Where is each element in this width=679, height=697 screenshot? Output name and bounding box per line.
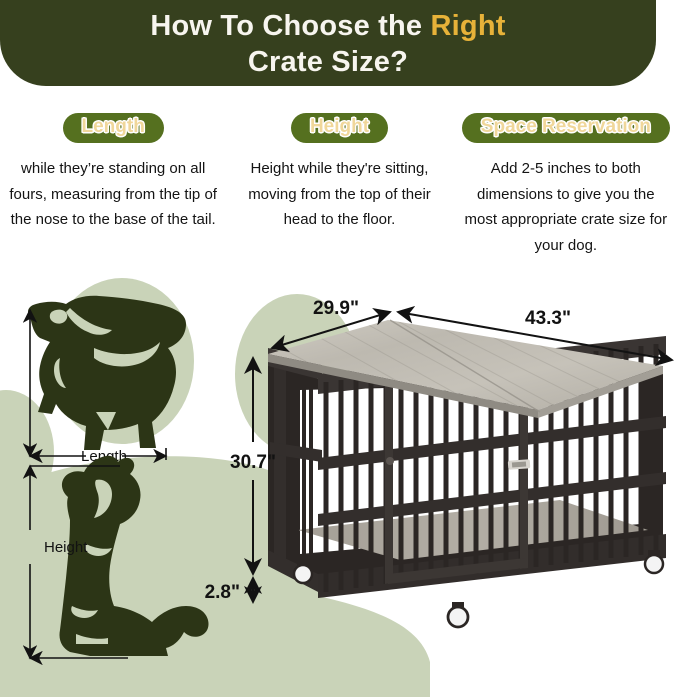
feature-text-length: while they’re standing on all fours, mea… (8, 156, 218, 233)
feature-text-space-reservation: Add 2-5 inches to both dimensions to giv… (461, 156, 671, 259)
dimension-label-depth: 29.9" (313, 298, 359, 319)
dimension-label-height-crate: 30.7" (230, 452, 276, 473)
illustration-area: Length Height (0, 262, 679, 697)
caster-front-center (448, 602, 468, 627)
page-title-line1-plain: How To Choose the (150, 10, 430, 42)
dimension-label-width: 43.3" (525, 308, 571, 329)
badge-space-reservation: Space Reservation (462, 113, 670, 143)
dog-crate-illustration (266, 316, 666, 627)
door-hinge-icon (386, 457, 394, 465)
page-title-accent-word: Right (431, 10, 506, 42)
feature-column-space-reservation: Space Reservation Add 2-5 inches to both… (453, 113, 679, 259)
page-title: How To Choose the Right Crate Size? (136, 8, 519, 81)
feature-column-height: Height Height while they're sitting, mov… (226, 113, 452, 233)
header-banner: How To Choose the Right Crate Size? (0, 0, 656, 86)
badge-length: Length (63, 113, 164, 143)
feature-column-length: Length while they’re standing on all fou… (0, 113, 226, 233)
dimension-label-clearance: 2.8" (205, 582, 240, 603)
badge-height: Height (291, 113, 388, 143)
page-title-line2: Crate Size? (248, 46, 408, 78)
dimension-label-height: Height (44, 539, 88, 556)
feature-text-height: Height while they're sitting, moving fro… (234, 156, 444, 233)
feature-columns: Length while they’re standing on all fou… (0, 113, 679, 259)
